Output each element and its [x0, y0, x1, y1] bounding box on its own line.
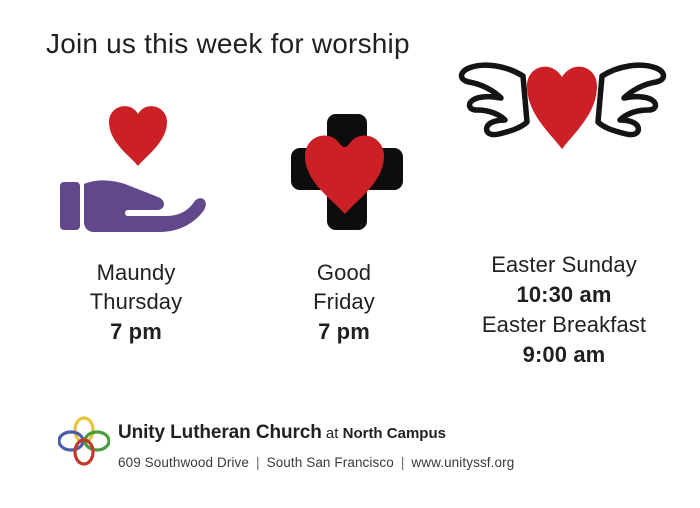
page-title: Join us this week for worship: [46, 28, 410, 60]
website-url[interactable]: www.unityssf.org: [411, 455, 514, 470]
separator: |: [394, 455, 412, 470]
service-time: 10:30 am: [444, 280, 684, 310]
city: South San Francisco: [267, 455, 394, 470]
org-campus: North Campus: [343, 425, 446, 442]
footer-text-block: Unity Lutheran Church at North Campus 60…: [118, 412, 514, 470]
service-time: 7 pm: [254, 317, 434, 346]
service-time: 7 pm: [36, 317, 236, 346]
heart-on-cross-icon: [283, 112, 413, 232]
organization-name-line: Unity Lutheran Church at North Campus: [118, 412, 514, 442]
worship-flyer: Join us this week for worship: [0, 0, 700, 508]
service-line: Easter Breakfast: [444, 310, 684, 340]
unity-rings-logo: [58, 416, 110, 468]
street-address: 609 Southwood Drive: [118, 455, 249, 470]
heart-in-hand-icon: [54, 94, 214, 234]
service-good-friday: Good Friday 7 pm: [254, 258, 434, 346]
separator: |: [249, 455, 267, 470]
service-time: 9:00 am: [444, 340, 684, 370]
org-name: Unity Lutheran Church: [118, 422, 322, 443]
service-easter-sunday: Easter Sunday 10:30 am Easter Breakfast …: [444, 250, 684, 370]
footer: Unity Lutheran Church at North Campus 60…: [58, 412, 658, 492]
winged-heart-icon: [455, 50, 670, 160]
address-line: 609 Southwood Drive|South San Francisco|…: [118, 442, 514, 470]
service-line: Thursday: [36, 287, 236, 316]
service-line: Friday: [254, 287, 434, 316]
service-maundy-thursday: Maundy Thursday 7 pm: [36, 258, 236, 346]
service-line: Easter Sunday: [444, 250, 684, 280]
service-line: Maundy: [36, 258, 236, 287]
org-at: at: [322, 425, 343, 442]
service-line: Good: [254, 258, 434, 287]
